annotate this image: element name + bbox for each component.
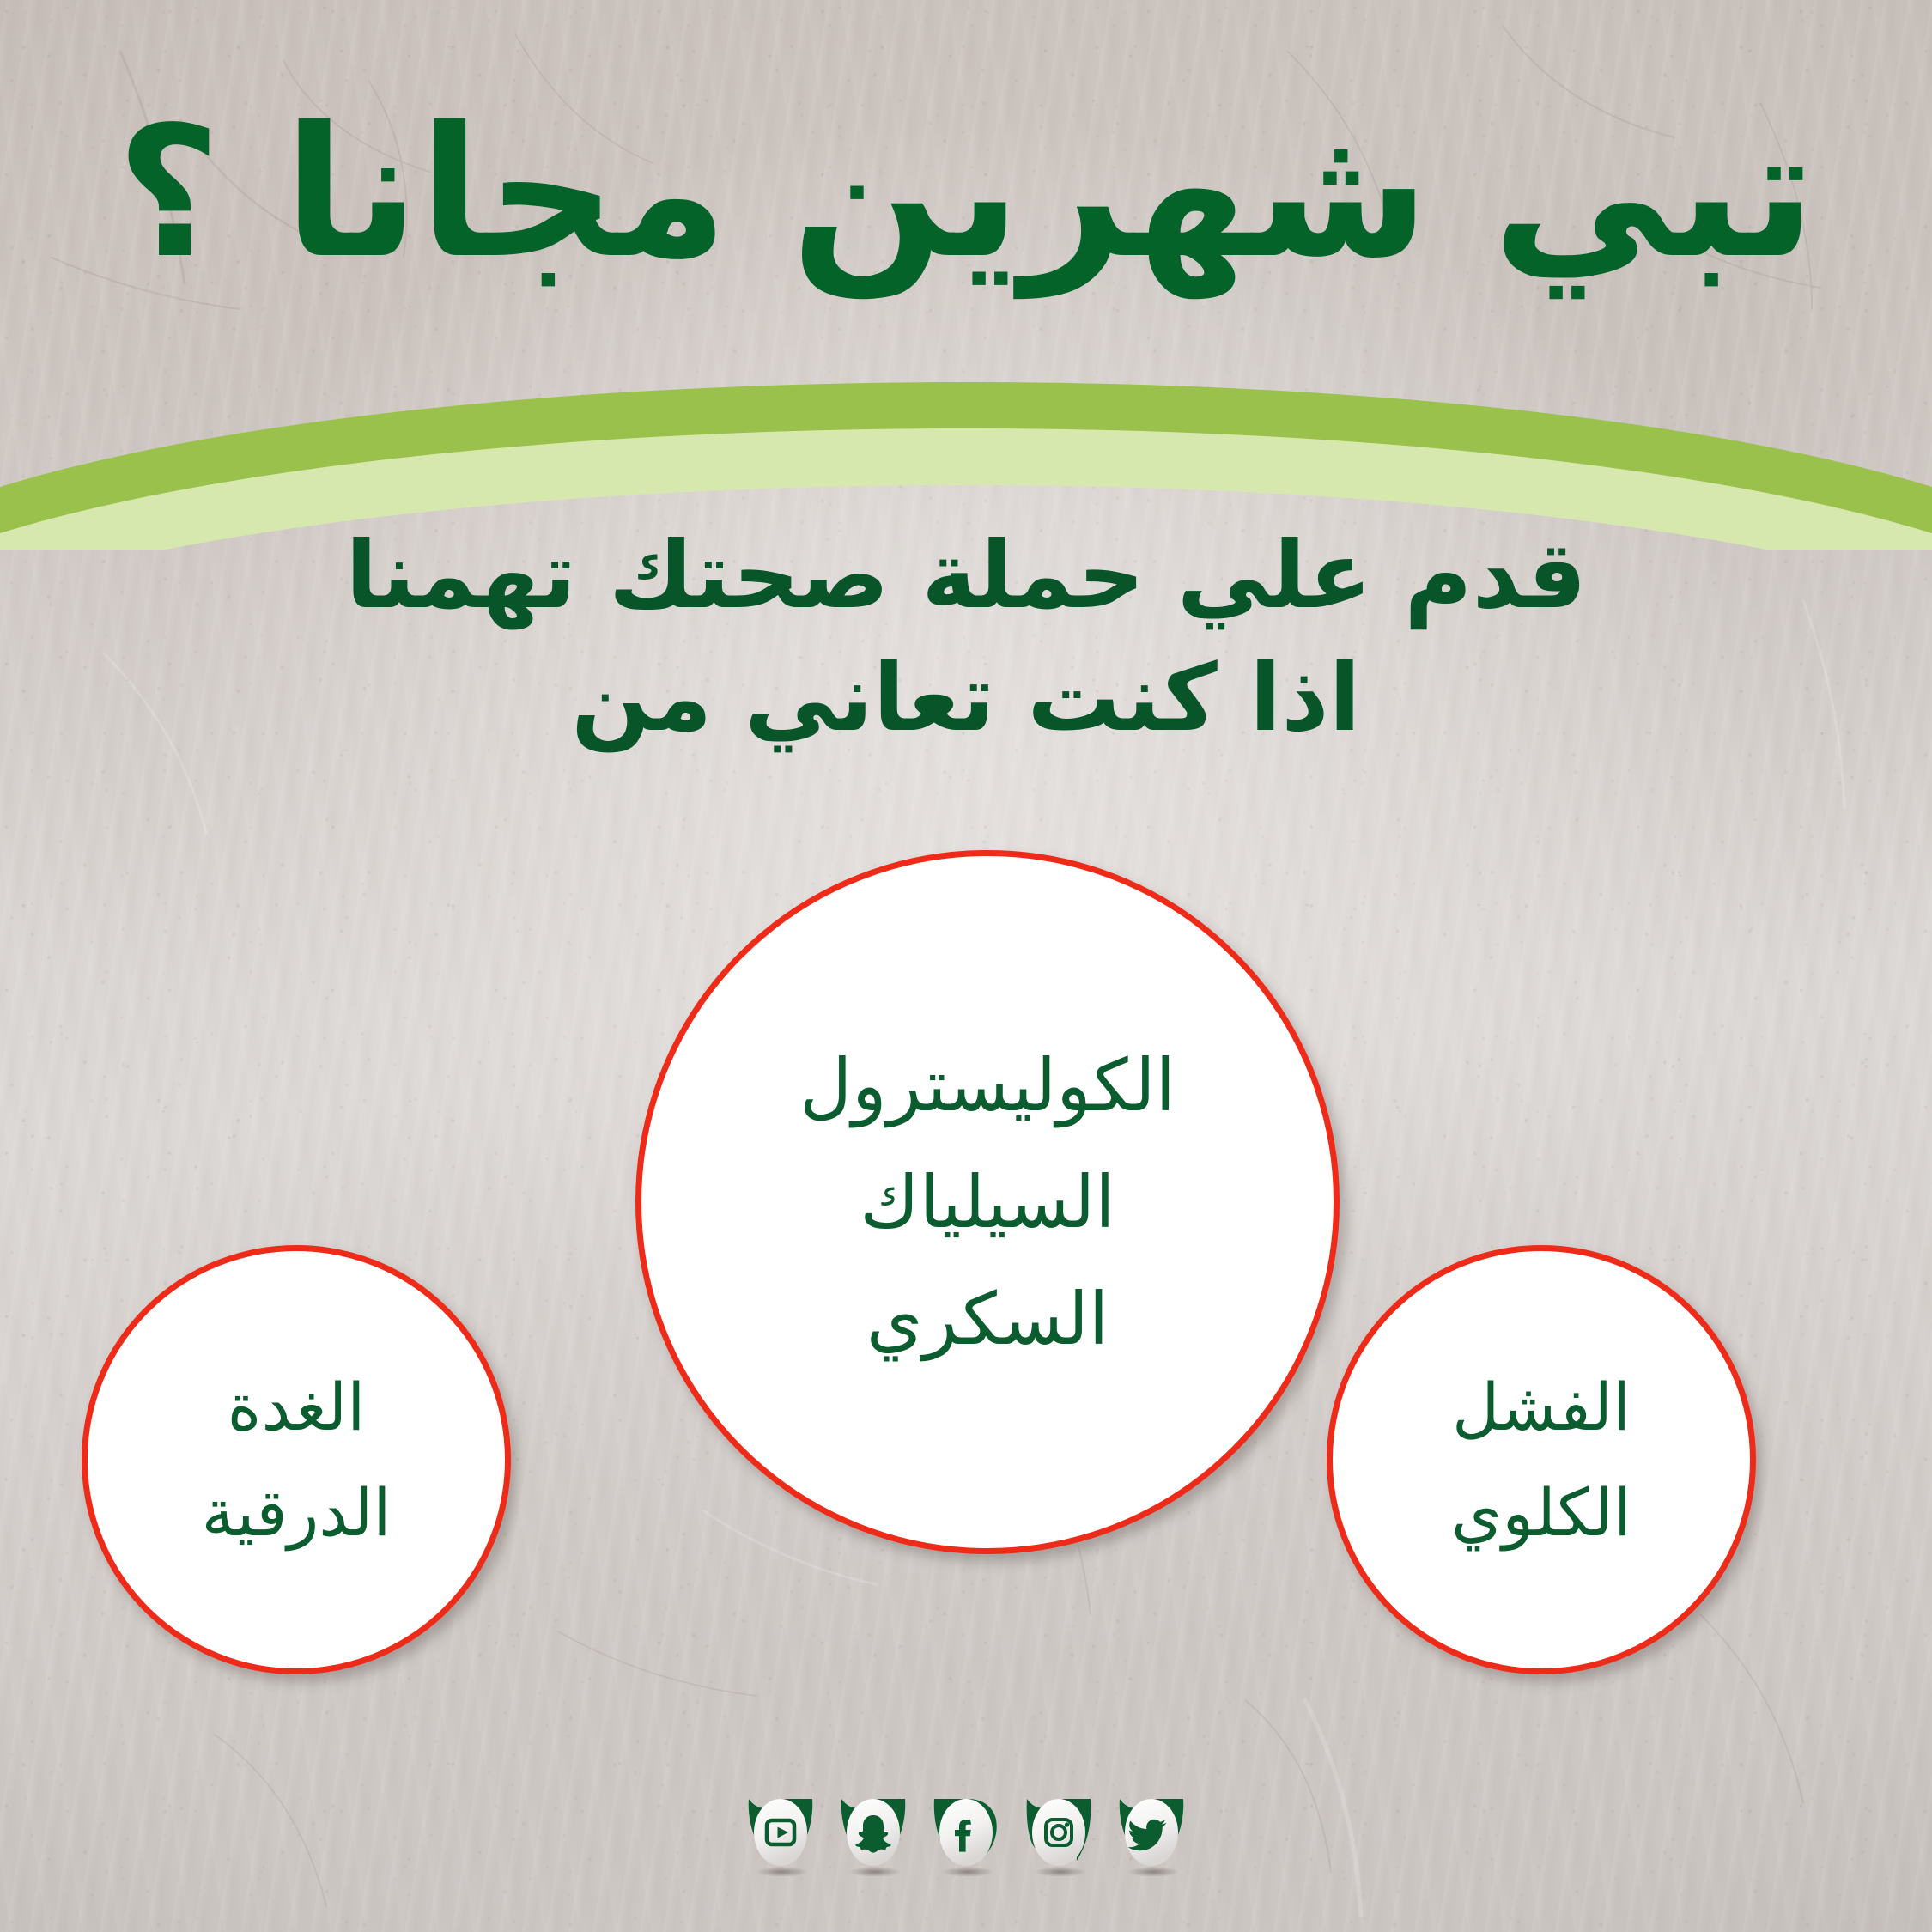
youtube-icon	[745, 1790, 816, 1876]
social-link-instagram[interactable]: Instagram	[1024, 1790, 1094, 1876]
circle-right-line-2: الكلوي	[1451, 1460, 1631, 1565]
social-link-snapchat[interactable]: Snapchat	[838, 1790, 908, 1876]
circle-center-line-1: الكوليسترول	[799, 1027, 1176, 1144]
poster-canvas: تبي شهرين مجانا ؟ قدم علي حملة صحتك تهمن…	[0, 0, 1932, 1932]
instagram-icon	[1024, 1790, 1094, 1876]
circle-center-line-3: السكري	[866, 1261, 1109, 1377]
twitter-icon	[1116, 1790, 1187, 1876]
social-links-row: Twitter Instagram Facebook	[0, 1790, 1932, 1876]
condition-circle-thyroid[interactable]: الغدة الدرقية	[82, 1245, 511, 1674]
social-link-facebook[interactable]: Facebook	[931, 1790, 1001, 1876]
social-link-twitter[interactable]: Twitter	[1116, 1790, 1187, 1876]
social-link-youtube[interactable]: YouTube	[745, 1790, 816, 1876]
condition-circle-kidney[interactable]: الفشل الكلوي	[1327, 1245, 1756, 1674]
circle-left-line-2: الدرقية	[202, 1460, 392, 1565]
condition-circle-main[interactable]: الكوليسترول السيلياك السكري	[635, 850, 1340, 1554]
circle-right-line-1: الفشل	[1452, 1354, 1631, 1460]
facebook-icon	[931, 1790, 1001, 1876]
subtitle-block: قدم علي حملة صحتك تهمنا اذا كنت تعاني من	[0, 515, 1932, 760]
subtitle-line-1: قدم علي حملة صحتك تهمنا	[0, 515, 1932, 638]
circle-center-line-2: السيلياك	[860, 1144, 1115, 1261]
subtitle-line-2: اذا كنت تعاني من	[0, 638, 1932, 761]
circle-left-line-1: الغدة	[228, 1354, 366, 1460]
snapchat-icon	[838, 1790, 908, 1876]
page-title: تبي شهرين مجانا ؟	[0, 103, 1932, 283]
